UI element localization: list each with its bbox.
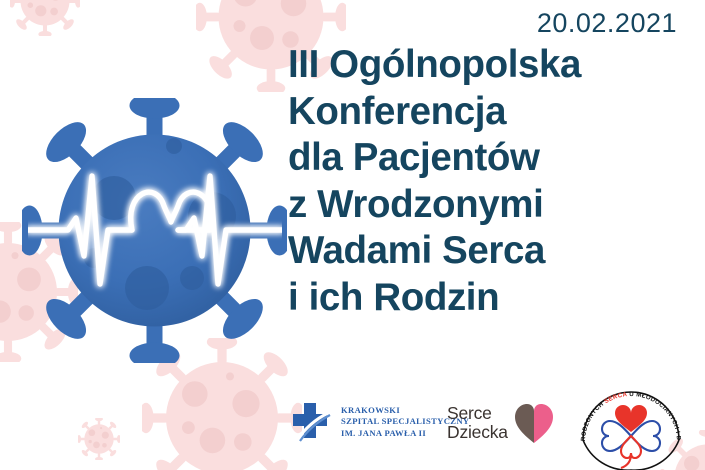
- title-line-3: dla Pacjentów: [288, 135, 692, 182]
- serce-line-1: Serce: [447, 404, 508, 423]
- logo-serce-dziecka: Serce Dziecka: [447, 402, 556, 444]
- logo-row: KRAKOWSKI SZPITAL SPECJALISTYCZNY IM. JA…: [0, 388, 705, 470]
- title-line-6: i ich Rodzin: [288, 275, 692, 322]
- event-date: 20.02.2021: [537, 8, 677, 39]
- title-line-1: III Ogólnopolska: [288, 42, 692, 89]
- logo-krakowski-szpital: KRAKOWSKI SZPITAL SPECJALISTYCZNY IM. JA…: [288, 400, 469, 444]
- serce-dziecka-name: Serce Dziecka: [447, 404, 508, 442]
- page-title: III Ogólnopolska Konferencja dla Pacjent…: [288, 42, 692, 321]
- title-line-5: Wadami Serca: [288, 228, 692, 275]
- ecg-heart-line: [28, 166, 282, 296]
- serce-line-2: Dziecka: [447, 423, 508, 442]
- four-heart-clover-logo: [602, 405, 660, 468]
- decor-virus-small-topleft: [10, 0, 80, 36]
- clover-heart-top: [615, 405, 647, 432]
- logo-ptk-sekcja: SEKCJA WAD WRODZONYCH SERCA U MŁODOCIANY…: [575, 388, 687, 470]
- coronavirus-heartbeat-icon: [22, 98, 287, 363]
- two-tone-heart-logo: [512, 402, 556, 444]
- title-line-4: z Wrodzonymi: [288, 182, 692, 229]
- title-line-2: Konferencja: [288, 89, 692, 136]
- conference-poster: 20.02.2021 III Ogólnopolska Konferencja …: [0, 0, 705, 470]
- medical-cross-logo: [288, 400, 332, 444]
